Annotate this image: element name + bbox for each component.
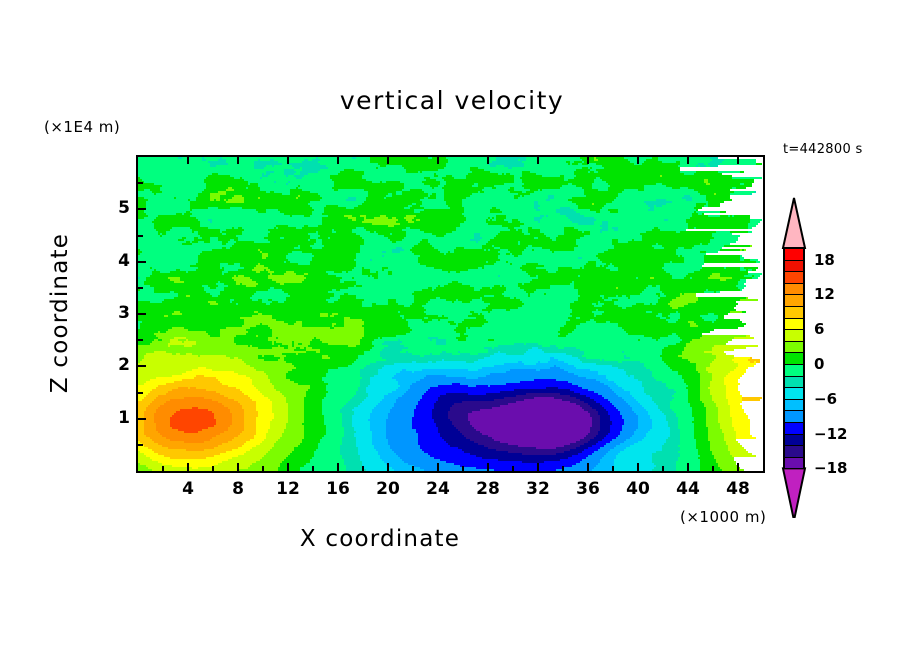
x-axis-tick-label: 32 [518,479,558,499]
x-axis-tick-top [237,157,239,164]
y-axis-tick [138,313,146,315]
x-axis-tick [387,463,389,471]
y-axis-title: Z coordinate [47,223,73,403]
page-title: vertical velocity [0,86,904,115]
colorbar-tick-label: 0 [814,355,824,373]
y-axis-tick-label: 1 [100,408,130,428]
x-axis-tick [287,463,289,471]
x-axis-tick [337,463,339,471]
x-axis-tick-label: 36 [568,479,608,499]
colorbar-tick-label: 18 [814,251,835,269]
x-axis-title: X coordinate [0,526,760,552]
x-axis-tick [737,463,739,471]
x-axis-tick-label: 48 [718,479,758,499]
x-axis-minor-tick [612,466,614,471]
y-axis-tick-label: 4 [100,251,130,271]
contour-field [138,157,763,471]
x-axis-tick-top [537,157,539,164]
x-axis-minor-tick [562,466,564,471]
x-axis-tick [537,463,539,471]
x-axis-tick [437,463,439,471]
x-axis-minor-tick [712,466,714,471]
x-axis-tick-label: 40 [618,479,658,499]
x-axis-tick-label: 24 [418,479,458,499]
figure-canvas: vertical velocity (×1E4 m) Z coordinate … [0,0,904,654]
x-axis-tick-label: 16 [318,479,358,499]
x-axis-tick-label: 4 [168,479,208,499]
y-axis-tick [138,418,146,420]
colorbar-swatch [783,457,805,470]
x-axis-tick-label: 12 [268,479,308,499]
x-axis-tick-top [487,157,489,164]
y-axis-tick-label: 3 [100,303,130,323]
x-axis-minor-tick [412,466,414,471]
y-axis-tick [138,365,146,367]
x-axis-minor-tick [362,466,364,471]
y-axis-tick [138,208,146,210]
x-axis-tick-top [587,157,589,164]
x-axis-minor-tick [312,466,314,471]
x-axis-minor-tick [662,466,664,471]
x-axis-tick-top [637,157,639,164]
x-axis-tick-top [737,157,739,164]
y-axis-tick [138,261,146,263]
y-axis-minor-tick [138,287,143,289]
y-axis-minor-tick [138,392,143,394]
y-axis-minor-tick [138,182,143,184]
x-axis-tick-top [187,157,189,164]
x-axis-tick [487,463,489,471]
colorbar-tick-label: −6 [814,390,837,408]
colorbar-tick-label: −18 [814,459,847,477]
y-axis-tick-label: 2 [100,355,130,375]
y-axis-tick-label: 5 [100,198,130,218]
y-axis-minor-tick [138,444,143,446]
x-axis-tick-top [687,157,689,164]
time-stamp-label: t=442800 s [783,142,863,157]
y-axis-minor-tick [138,235,143,237]
x-axis-tick [587,463,589,471]
colorbar-tick-label: 6 [814,320,824,338]
x-axis-tick-top [337,157,339,164]
x-axis-tick-label: 20 [368,479,408,499]
x-axis-minor-tick [462,466,464,471]
x-axis-tick-label: 44 [668,479,708,499]
y-axis-minor-tick [138,339,143,341]
colorbar-tick-label: −12 [814,425,847,443]
colorbar-tick-label: 12 [814,285,835,303]
x-axis-tick [187,463,189,471]
x-axis-minor-tick [262,466,264,471]
colorbar [778,196,812,518]
x-axis-tick-label: 28 [468,479,508,499]
x-axis-tick-top [437,157,439,164]
x-axis-minor-tick [162,466,164,471]
x-axis-tick [637,463,639,471]
x-axis-unit-label: (×1000 m) [680,508,766,526]
x-axis-tick-label: 8 [218,479,258,499]
x-axis-tick-top [287,157,289,164]
contour-plot-area [136,155,765,473]
x-axis-minor-tick [512,466,514,471]
x-axis-tick [687,463,689,471]
x-axis-tick-top [387,157,389,164]
y-axis-unit-label: (×1E4 m) [44,118,120,136]
x-axis-tick [237,463,239,471]
x-axis-minor-tick [212,466,214,471]
